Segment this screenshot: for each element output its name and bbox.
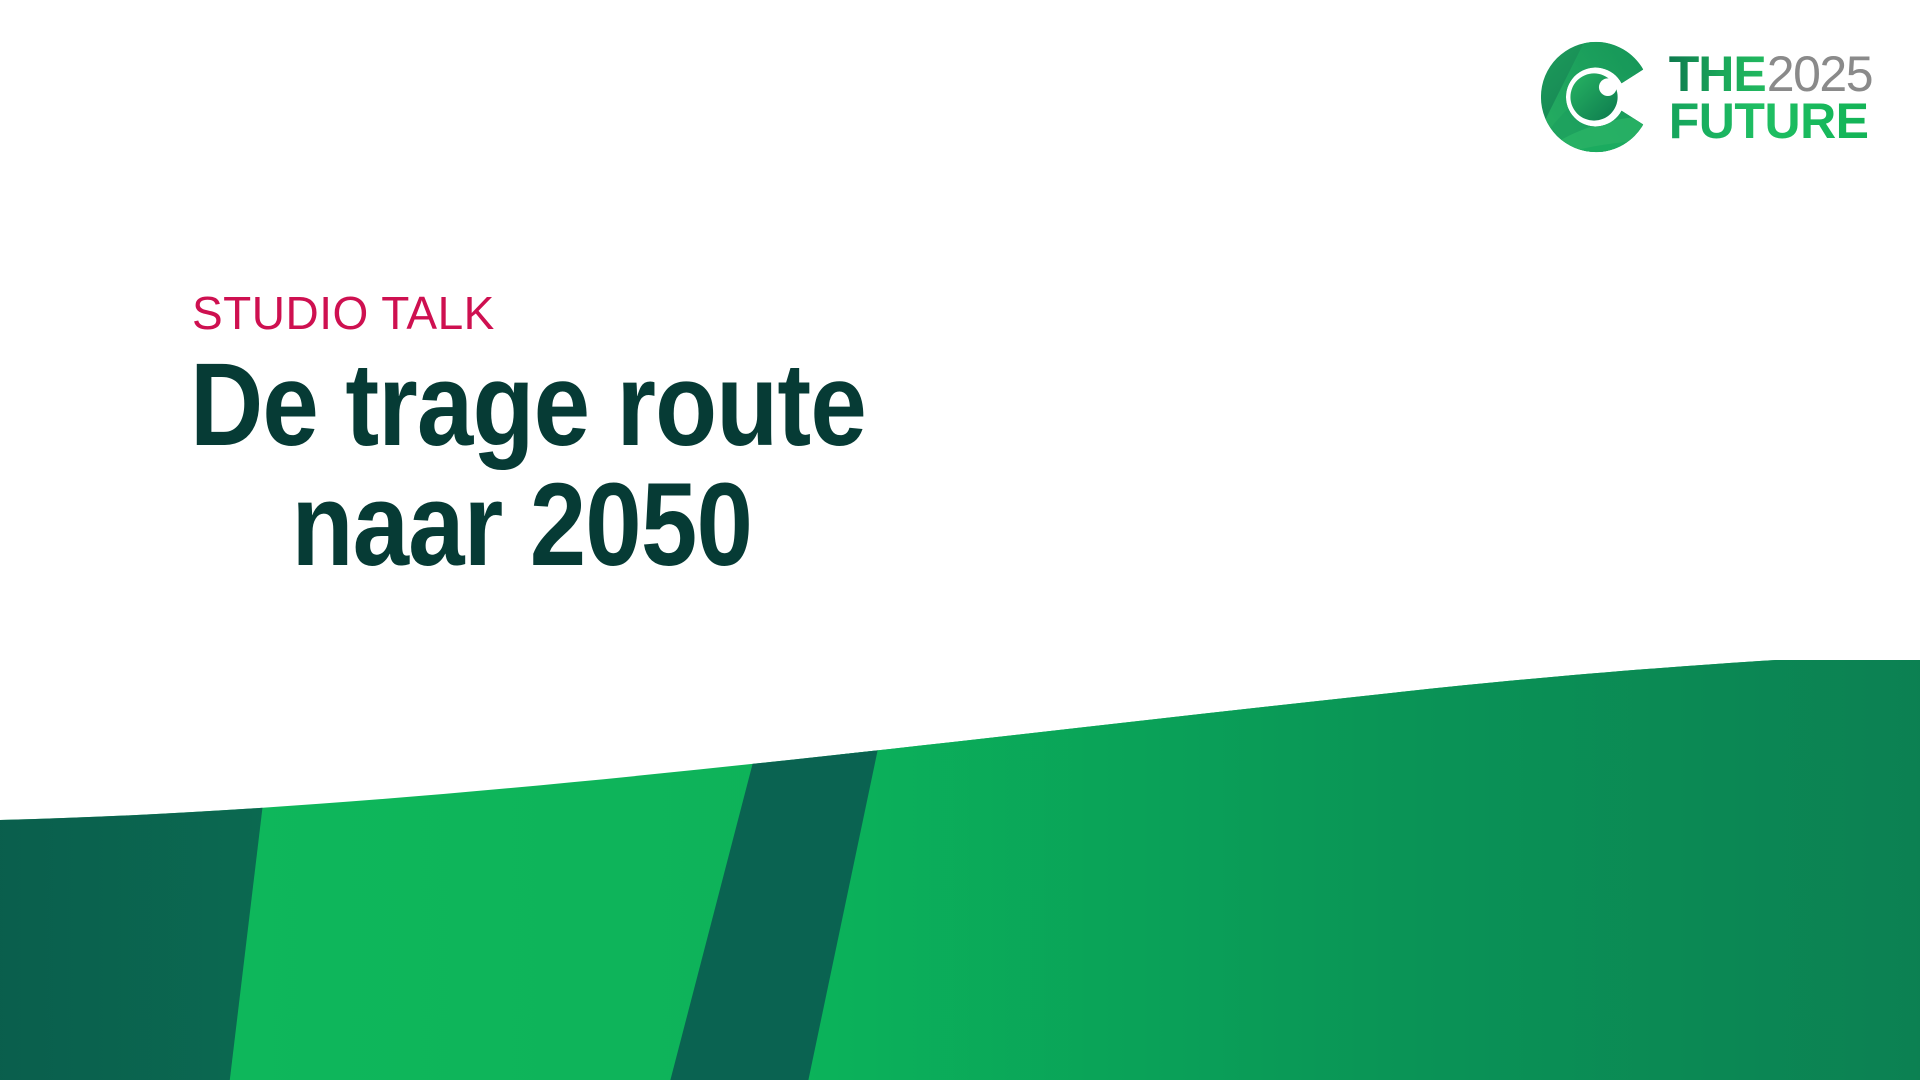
eyebrow-label: STUDIO TALK (192, 288, 1290, 339)
title-line-1: De trage route (190, 345, 1136, 465)
title-block: STUDIO TALK De trage route naar 2050 (190, 288, 1290, 585)
logo-year: 2025 (1767, 51, 1872, 97)
logo-word-future: FUTURE (1669, 97, 1872, 146)
presentation-slide: THE 2025 FUTURE STUDIO TALK De trage rou… (0, 0, 1920, 1080)
the-future-c-mark-icon (1537, 38, 1655, 156)
logo-word-the: THE (1669, 51, 1766, 97)
page-title: De trage route naar 2050 (190, 345, 1136, 586)
bottom-green-wave (0, 660, 1920, 1080)
logo-wordmark: THE 2025 FUTURE (1669, 51, 1872, 146)
the-future-2025-logo: THE 2025 FUTURE (1537, 38, 1872, 156)
title-line-2: naar 2050 (190, 465, 1136, 585)
